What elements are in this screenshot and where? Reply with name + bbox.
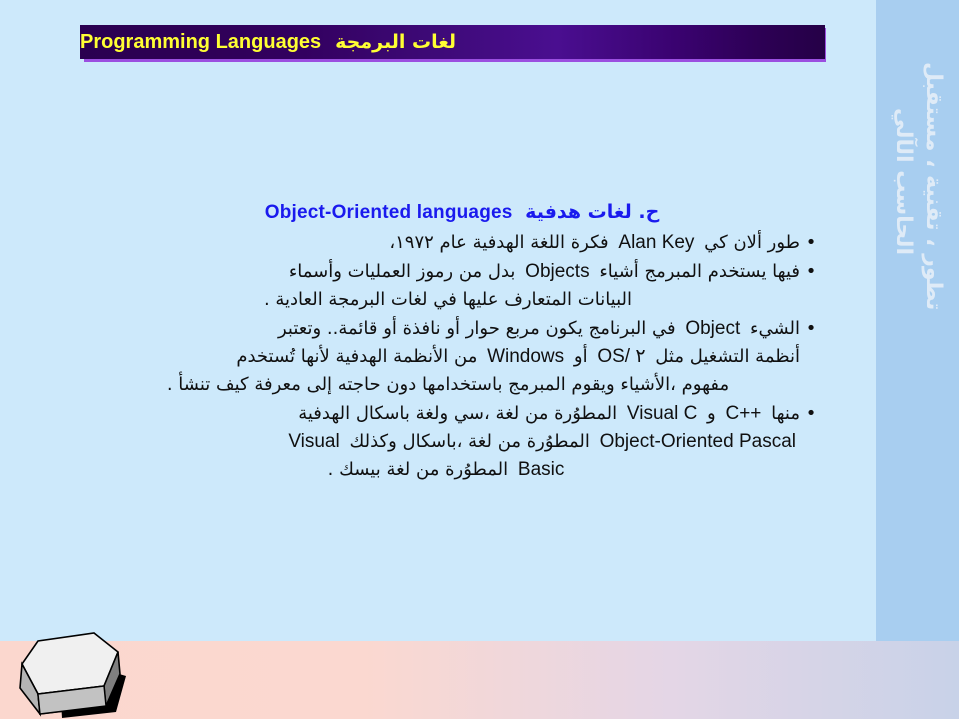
text-segment-arabic: المطوُرة من لغة ،سي ولغة باسكال الهدفية [298,403,617,424]
text-segment-latin: OS/ ٢ [597,343,645,371]
text-segment-arabic: في البرنامج يكون مربع حوار أو نافذة أو ق… [278,318,676,339]
text-segment-arabic: مفهوم ،الأشياء ويقوم المبرمج باستخدامها … [167,374,729,395]
text-segment-latin: Object [685,315,740,343]
text-segment-latin: Windows [487,343,564,371]
text-segment-arabic: منها [771,403,800,424]
bullet-text-line: البيانات المتعارف عليها في لغات البرمجة … [96,286,800,314]
text-segment-arabic: المطوُرة من لغة ،باسكال وكذلك [349,431,589,452]
section-heading-arabic: ح. لغات هدفية [525,201,659,223]
title-bar: لغات البرمجة Programming Languages [80,25,825,59]
text-segment-latin: Visual C [627,400,697,428]
sidebar-vertical-text-line2: الحاسب الآلي [891,108,916,255]
slide-canvas: تطور ، تقنية ، مستقبل الحاسب الآلي لغات … [0,0,959,719]
section-heading-english: Object-Oriented languages [265,199,513,227]
bullet-text-line: طور ألان كي Alan Key فكرة اللغة الهدفية … [96,229,800,257]
bullet-text-line: مفهوم ،الأشياء ويقوم المبرمج باستخدامها … [96,371,800,399]
text-segment-arabic: بدل من رموز العمليات وأسماء [289,261,516,282]
bullet-text: الشيء Object في البرنامج يكون مربع حوار … [96,315,800,399]
sidebar-text-group: تطور ، تقنية ، مستقبل الحاسب الآلي [876,0,959,641]
text-segment-arabic: طور ألان كي [704,232,800,253]
text-segment-arabic: أو [574,346,588,367]
bullet-text: منها C++ و Visual C المطوُرة من لغة ،سي … [96,400,800,484]
text-segment-latin: C++ [725,400,761,428]
bullet-text-line: منها C++ و Visual C المطوُرة من لغة ،سي … [96,400,800,428]
bullet-text: طور ألان كي Alan Key فكرة اللغة الهدفية … [96,229,800,257]
text-segment-arabic: الشيء [750,318,800,339]
text-segment-arabic: أنظمة التشغيل مثل [655,346,800,367]
text-segment-latin: Visual [288,428,339,456]
bullet-list: •طور ألان كي Alan Key فكرة اللغة الهدفية… [96,229,822,484]
slide-title-arabic: لغات البرمجة [335,31,456,53]
bottom-decorative-strip [0,641,959,719]
text-segment-arabic: و [707,403,716,424]
bullet-item: •فيها يستخدم المبرمج أشياء Objects بدل م… [96,258,822,314]
text-segment-latin: Objects [525,258,589,286]
sidebar-vertical-text-line1: تطور ، تقنية ، مستقبل [921,62,946,310]
bullet-text-line: Basic المطوُرة من لغة بيسك . [96,456,800,484]
text-segment-latin: Object-Oriented Pascal [600,428,796,456]
bullet-text: فيها يستخدم المبرمج أشياء Objects بدل من… [96,258,800,314]
text-segment-arabic: البيانات المتعارف عليها في لغات البرمجة … [264,289,632,310]
slide-title-english: Programming Languages [80,31,321,54]
text-segment-arabic: فكرة اللغة الهدفية عام ١٩٧٢، [389,232,608,253]
title-bar-content: لغات البرمجة Programming Languages [80,25,825,59]
bullet-marker-icon: • [800,315,822,343]
text-segment-latin: Basic [518,456,564,484]
text-segment-arabic: من الأنظمة الهدفية لأنها تُستخدم [236,346,477,367]
section-heading: ح. لغات هدفية Object-Oriented languages [96,198,822,227]
bullet-marker-icon: • [800,400,822,428]
text-segment-arabic: المطوُرة من لغة بيسك . [328,459,509,480]
bullet-item: •طور ألان كي Alan Key فكرة اللغة الهدفية… [96,229,822,257]
bullet-item: •الشيء Object في البرنامج يكون مربع حوار… [96,315,822,399]
keycap-graphic: ٨٧ [18,622,138,719]
slide-body: ح. لغات هدفية Object-Oriented languages … [96,198,822,485]
bullet-item: •منها C++ و Visual C المطوُرة من لغة ،سي… [96,400,822,484]
bullet-text-line: فيها يستخدم المبرمج أشياء Objects بدل من… [96,258,800,286]
right-sidebar: تطور ، تقنية ، مستقبل الحاسب الآلي [876,0,959,641]
bullet-text-line: أنظمة التشغيل مثل OS/ ٢ أو Windows من ال… [96,343,800,371]
bullet-text-line: الشيء Object في البرنامج يكون مربع حوار … [96,315,800,343]
text-segment-arabic: فيها يستخدم المبرمج أشياء [599,261,800,282]
text-segment-latin: Alan Key [618,229,694,257]
bullet-marker-icon: • [800,229,822,257]
bullet-marker-icon: • [800,258,822,286]
bullet-text-line: Object-Oriented Pascal المطوُرة من لغة ،… [96,428,800,456]
